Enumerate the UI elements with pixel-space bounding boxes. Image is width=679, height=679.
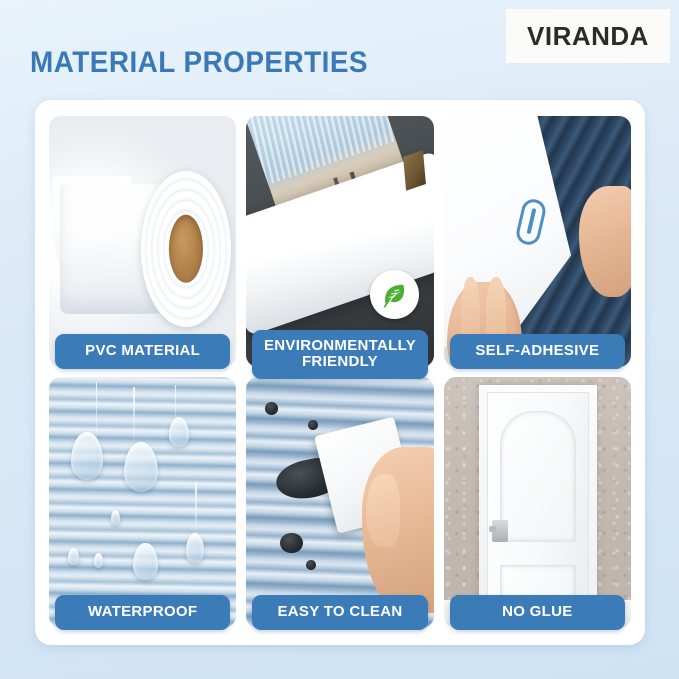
water-droplet [186, 533, 205, 563]
roll-face-shape [141, 171, 231, 327]
door-leaf [487, 392, 588, 621]
brand-logo-text: VIRANDA [527, 21, 649, 52]
feature-label-environmentally-friendly: ENVIRONMENTALLY FRIENDLY [252, 330, 427, 379]
green-leaf-icon [370, 270, 419, 319]
feature-card-no-glue[interactable]: NO GLUE [444, 377, 631, 628]
water-droplet [71, 432, 103, 480]
water-droplet [68, 548, 79, 566]
self-adhesive-image [444, 116, 631, 367]
dirt-smudge [265, 402, 278, 415]
feature-label-easy-to-clean: EASY TO CLEAN [252, 595, 427, 630]
feature-card-waterproof[interactable]: WATERPROOF [49, 377, 236, 628]
dirt-smudge [280, 533, 302, 553]
water-droplet [169, 417, 190, 447]
header: MATERIAL PROPERTIES VIRANDA [0, 0, 679, 100]
no-glue-door-image [444, 377, 631, 628]
drip-streak [195, 482, 197, 537]
door-panel-top [500, 411, 576, 543]
page-title: MATERIAL PROPERTIES [30, 46, 368, 80]
roll-core-shape [169, 215, 203, 283]
feature-label-self-adhesive: SELF-ADHESIVE [450, 334, 625, 369]
feature-card-pvc-material[interactable]: PVC MATERIAL [49, 116, 236, 367]
hand-shape [362, 447, 433, 613]
feature-card-environmentally-friendly[interactable]: ENVIRONMENTALLY FRIENDLY [246, 116, 433, 367]
dirt-smudge [306, 560, 315, 570]
feature-label-no-glue: NO GLUE [450, 595, 625, 630]
water-droplet [124, 442, 158, 492]
feature-card-easy-to-clean[interactable]: EASY TO CLEAN [246, 377, 433, 628]
features-panel: PVC MATERIAL ENVIRONMENTALLY FRIENDLY [35, 100, 645, 645]
dirt-smudge [308, 420, 317, 430]
pvc-roll-image [49, 116, 236, 367]
easy-to-clean-image [246, 377, 433, 628]
drip-streak [133, 387, 135, 442]
feature-label-waterproof: WATERPROOF [55, 595, 230, 630]
door-frame [479, 385, 597, 621]
feature-label-pvc-material: PVC MATERIAL [55, 334, 230, 369]
features-grid: PVC MATERIAL ENVIRONMENTALLY FRIENDLY [49, 116, 631, 628]
waterproof-image [49, 377, 236, 628]
door-handle [492, 520, 508, 543]
curl-tip-shape [403, 150, 425, 190]
brand-logo: VIRANDA [506, 9, 670, 63]
water-droplet [94, 553, 103, 568]
feature-card-self-adhesive[interactable]: SELF-ADHESIVE [444, 116, 631, 367]
water-droplet [111, 510, 120, 525]
water-droplet [133, 543, 157, 581]
